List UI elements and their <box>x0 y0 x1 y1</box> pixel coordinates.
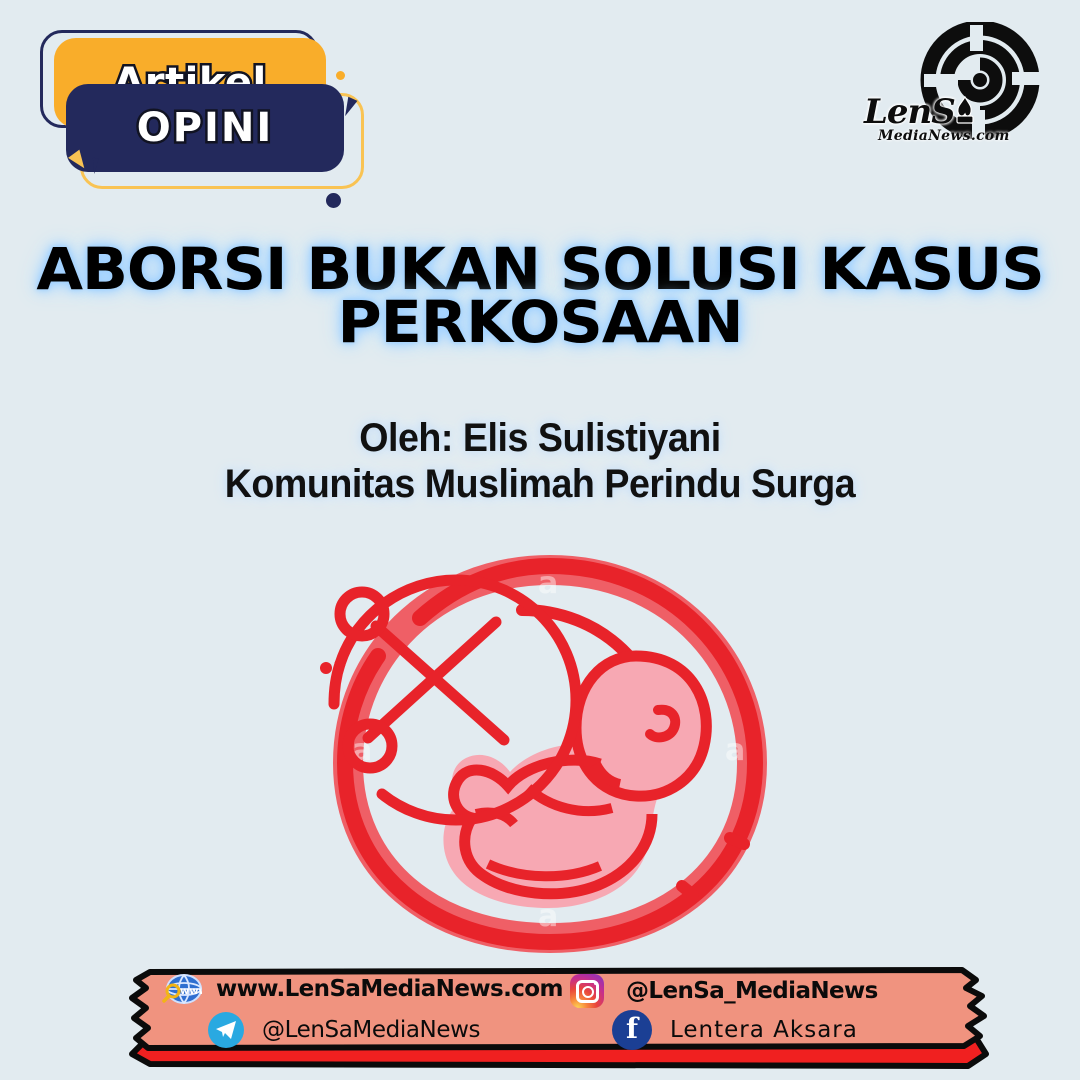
instagram-icon <box>570 974 604 1008</box>
footer-instagram-label: @LenSa_MediaNews <box>626 978 878 1004</box>
globe-www-icon: www <box>162 974 202 1004</box>
svg-text:a: a <box>725 733 745 768</box>
footer-facebook-label: Lentera Aksara <box>670 1017 858 1043</box>
opini-badge-label: OPINI <box>137 105 274 151</box>
byline-author: Oleh: Elis Sulistiyani <box>32 415 1047 461</box>
opini-badge[interactable]: OPINI <box>66 84 344 172</box>
fetus-no-abortion-illustration: a a a a a a a u <box>300 518 800 968</box>
author-byline: Oleh: Elis Sulistiyani Komunitas Muslima… <box>32 415 1047 508</box>
category-badge-cluster: Artikel OPINI <box>32 28 362 178</box>
footer-facebook[interactable]: f Lentera Aksara <box>612 1010 858 1050</box>
page-title: ABORSI BUKAN SOLUSI KASUS PERKOSAAN <box>0 243 1080 350</box>
telegram-icon <box>208 1012 244 1048</box>
orange-dot-decoration <box>336 71 345 80</box>
byline-community: Komunitas Muslimah Perindu Surga <box>32 461 1047 507</box>
social-footer-banner: www www.LenSaMediaNews.com @LenSa_MediaN… <box>120 962 1000 1074</box>
footer-website[interactable]: www www.LenSaMediaNews.com <box>162 974 563 1004</box>
svg-text:a: a <box>538 566 558 601</box>
headline-line-2: PERKOSAAN <box>0 296 1080 349</box>
svg-text:www: www <box>180 986 202 997</box>
torch-flame-icon <box>952 96 978 126</box>
brand-logo[interactable]: LenS MediaNews.com <box>862 22 1052 172</box>
facebook-icon: f <box>612 1010 652 1050</box>
logo-name: LenS <box>864 92 955 132</box>
footer-telegram[interactable]: @LenSaMediaNews <box>208 1012 480 1048</box>
fetus-head <box>576 656 706 796</box>
scissor-blade-1 <box>376 626 504 740</box>
logo-subtitle: MediaNews.com <box>878 128 1010 144</box>
navy-dot-decoration <box>326 193 341 208</box>
footer-telegram-label: @LenSaMediaNews <box>262 1017 480 1043</box>
footer-website-label: www.LenSaMediaNews.com <box>216 976 563 1002</box>
footer-instagram[interactable]: @LenSa_MediaNews <box>570 974 878 1008</box>
poster-canvas: Artikel OPINI LenS <box>0 0 1080 1080</box>
